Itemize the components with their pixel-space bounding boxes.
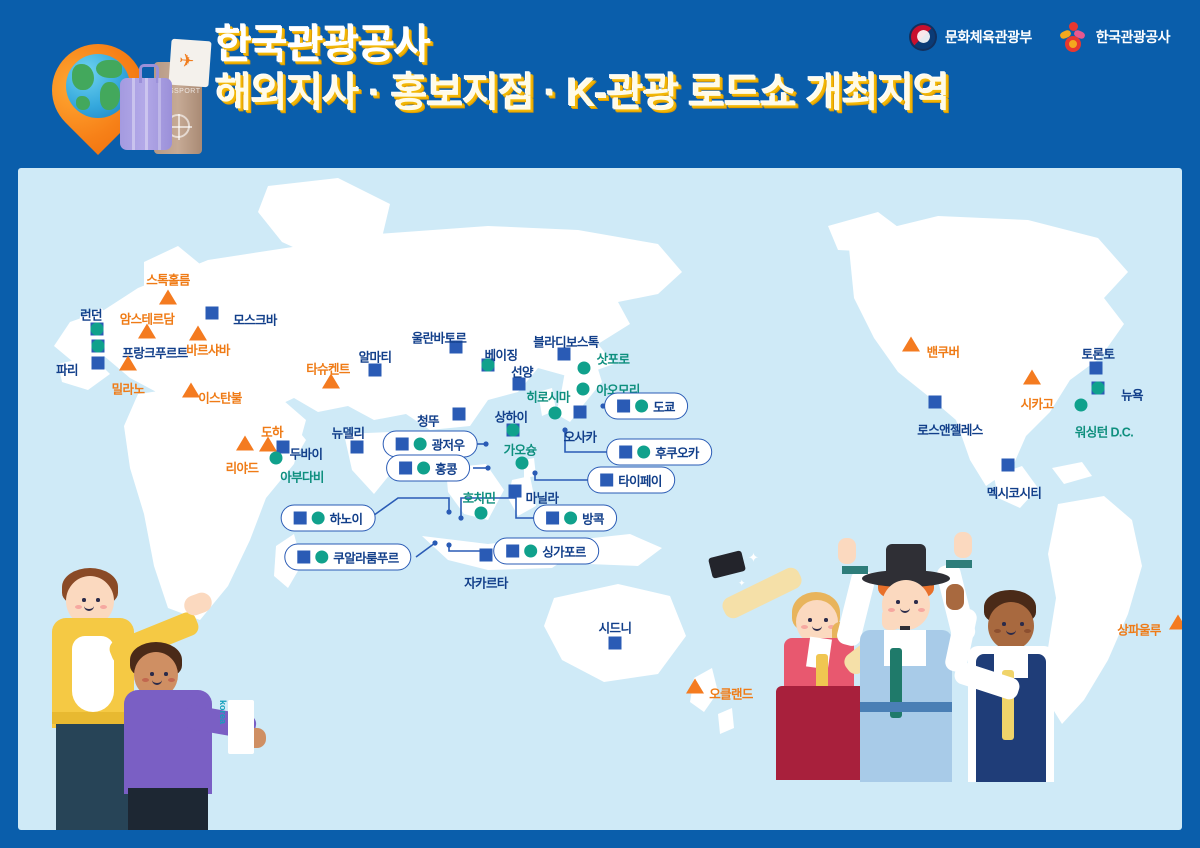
airplane-icon: ✈: [179, 51, 195, 70]
promo-triangle-icon: [236, 435, 254, 450]
logo-kto: 한국관광공사: [1058, 22, 1170, 52]
map-callout-pill[interactable]: 싱가포르: [493, 538, 599, 565]
branch-square-icon: [929, 395, 942, 408]
branch-square-icon: [600, 474, 613, 487]
map-callout-label: 하노이: [330, 509, 363, 528]
map-callout-pill[interactable]: 방콕: [533, 505, 617, 532]
map-callout-label: 광저우: [432, 435, 465, 454]
infographic-page: PASSPORT ✈ 한국관광공사 해외지사 · 홍보지점 · K-관광 로드쇼…: [0, 0, 1200, 848]
branch-square-icon: [206, 306, 219, 319]
branch-square-icon: [546, 512, 559, 525]
map-city-label: 알마티: [359, 347, 392, 366]
promo-triangle-icon: [119, 355, 137, 370]
map-city-label: 뉴욕: [1121, 385, 1143, 404]
map-city-label: 밀라노: [112, 379, 145, 398]
roadshow-circle-icon: [635, 400, 648, 413]
brochure-text: korea: [218, 700, 228, 724]
logo-ministry: 문화체육관광부: [909, 23, 1032, 51]
map-city-label: 울란바토르: [412, 328, 467, 347]
map-city-label: 스톡홀름: [146, 270, 190, 289]
map-city-label: 밴쿠버: [927, 342, 960, 361]
roadshow-circle-icon: [577, 382, 590, 395]
roadshow-circle-icon: [549, 406, 562, 419]
world-map: 스톡홀름런던암스테르담모스크바바르샤바프랑크푸르트파리밀라노이스탄불타슈켄트알마…: [18, 168, 1182, 830]
branch-square-icon: [351, 440, 364, 453]
korea-brochure: korea: [228, 700, 254, 754]
map-callout-pill[interactable]: 쿠알라룸푸르: [284, 544, 411, 571]
logo-group: 문화체육관광부 한국관광공사: [909, 22, 1170, 52]
promo-triangle-icon: [189, 325, 207, 340]
traveler-illustration-left: korea: [34, 550, 274, 830]
map-callout-label: 쿠알라룸푸르: [333, 548, 398, 567]
map-city-label: 토론토: [1082, 344, 1115, 363]
map-city-label: 두바이: [290, 444, 323, 463]
map-city-label: 모스크바: [233, 310, 277, 329]
roadshow-circle-icon: [414, 438, 427, 451]
map-city-label: 청뚜: [417, 411, 439, 430]
branch-square-icon: [480, 548, 493, 561]
page-title-line-1: 한국관광공사: [215, 22, 845, 68]
map-city-label: 도하: [261, 422, 283, 441]
branch-square-icon: [609, 636, 622, 649]
map-city-label: 상하이: [495, 407, 528, 426]
roadshow-circle-icon: [475, 506, 488, 519]
branch-square-icon: [396, 438, 409, 451]
branch-square-icon: [509, 484, 522, 497]
map-city-label: 로스앤젤레스: [917, 420, 982, 439]
promo-triangle-icon: [902, 336, 920, 351]
map-city-label: 아부다비: [280, 467, 324, 486]
map-callout-label: 싱가포르: [542, 542, 586, 561]
kto-symbol-icon: [1058, 22, 1088, 52]
roadshow-circle-icon: [524, 545, 537, 558]
map-callout-label: 방콕: [582, 509, 604, 528]
airplane-ticket-icon: ✈: [168, 39, 211, 88]
map-city-label: 멕시코시티: [987, 483, 1042, 502]
logo-ministry-label: 문화체육관광부: [945, 27, 1032, 47]
map-city-label: 호치민: [463, 488, 496, 507]
branch-square-icon: [453, 407, 466, 420]
map-city-label: 삿포로: [597, 349, 630, 368]
travel-illustration-icon: PASSPORT ✈: [42, 22, 212, 152]
map-callout-pill[interactable]: 후쿠오카: [606, 439, 712, 466]
title-block: 한국관광공사 해외지사 · 홍보지점 · K-관광 로드쇼 개최지역: [215, 22, 845, 118]
map-city-label: 시카고: [1021, 394, 1054, 413]
roadshow-circle-icon: [578, 361, 591, 374]
header-banner: PASSPORT ✈ 한국관광공사 해외지사 · 홍보지점 · K-관광 로드쇼…: [0, 0, 1200, 168]
promo-triangle-icon: [159, 289, 177, 304]
map-callout-label: 타이페이: [618, 471, 662, 490]
branch-square-icon: [1002, 458, 1015, 471]
bottom-strip: [0, 830, 1200, 848]
map-city-label: 파리: [56, 360, 78, 379]
promo-triangle-icon: [1169, 614, 1182, 629]
map-callout-label: 후쿠오카: [655, 443, 699, 462]
map-city-label: 선양: [511, 362, 533, 381]
map-city-label: 가오슝: [504, 440, 537, 459]
roadshow-circle-icon: [270, 451, 283, 464]
branch-square-icon: [399, 462, 412, 475]
map-callout-pill[interactable]: 하노이: [281, 505, 376, 532]
map-callout-pill[interactable]: 광저우: [383, 431, 478, 458]
suitcase-icon: [120, 78, 172, 150]
map-city-label: 바르샤바: [186, 340, 230, 359]
map-city-label: 런던: [80, 305, 102, 324]
map-callout-label: 홍콩: [435, 459, 457, 478]
map-callout-pill[interactable]: 홍콩: [386, 455, 470, 482]
roadshow-circle-icon: [315, 551, 328, 564]
map-city-label: 암스테르담: [120, 309, 175, 328]
page-title-line-2: 해외지사 · 홍보지점 · K-관광 로드쇼 개최지역: [215, 68, 845, 118]
roadshow-circle-icon: [637, 446, 650, 459]
map-city-label: 오사카: [564, 427, 597, 446]
roadshow-circle-icon: [92, 339, 105, 352]
branch-square-icon: [297, 551, 310, 564]
hanbok-illustration-right: ✦ ✦: [732, 530, 1062, 830]
roadshow-circle-icon: [564, 512, 577, 525]
map-city-label: 자카르타: [464, 573, 508, 592]
roadshow-circle-icon: [91, 322, 104, 335]
promo-triangle-icon: [686, 678, 704, 693]
branch-square-icon: [1090, 361, 1103, 374]
roadshow-circle-icon: [417, 462, 430, 475]
branch-square-icon: [92, 356, 105, 369]
roadshow-circle-icon: [1075, 398, 1088, 411]
roadshow-circle-icon: [1092, 381, 1105, 394]
branch-square-icon: [506, 545, 519, 558]
map-callout-label: 도쿄: [653, 397, 675, 416]
map-city-label: 워싱턴 D.C.: [1075, 422, 1133, 441]
map-city-label: 히로시마: [526, 387, 570, 406]
map-city-label: 리야드: [226, 458, 259, 477]
map-callout-pill[interactable]: 타이페이: [587, 467, 675, 494]
map-city-label: 블라디보스톡: [533, 332, 598, 351]
map-city-label: 이스탄불: [198, 388, 242, 407]
logo-kto-label: 한국관광공사: [1096, 27, 1170, 47]
branch-square-icon: [574, 405, 587, 418]
map-city-label: 뉴델리: [332, 423, 365, 442]
branch-square-icon: [617, 400, 630, 413]
map-city-label: 타슈켄트: [306, 359, 350, 378]
promo-triangle-icon: [1023, 369, 1041, 384]
map-callout-pill[interactable]: 도쿄: [604, 393, 688, 420]
map-city-label: 시드니: [599, 618, 632, 637]
roadshow-circle-icon: [312, 512, 325, 525]
branch-square-icon: [619, 446, 632, 459]
branch-square-icon: [294, 512, 307, 525]
taegeuk-icon: [909, 23, 937, 51]
map-city-label: 상파울루: [1117, 620, 1161, 639]
